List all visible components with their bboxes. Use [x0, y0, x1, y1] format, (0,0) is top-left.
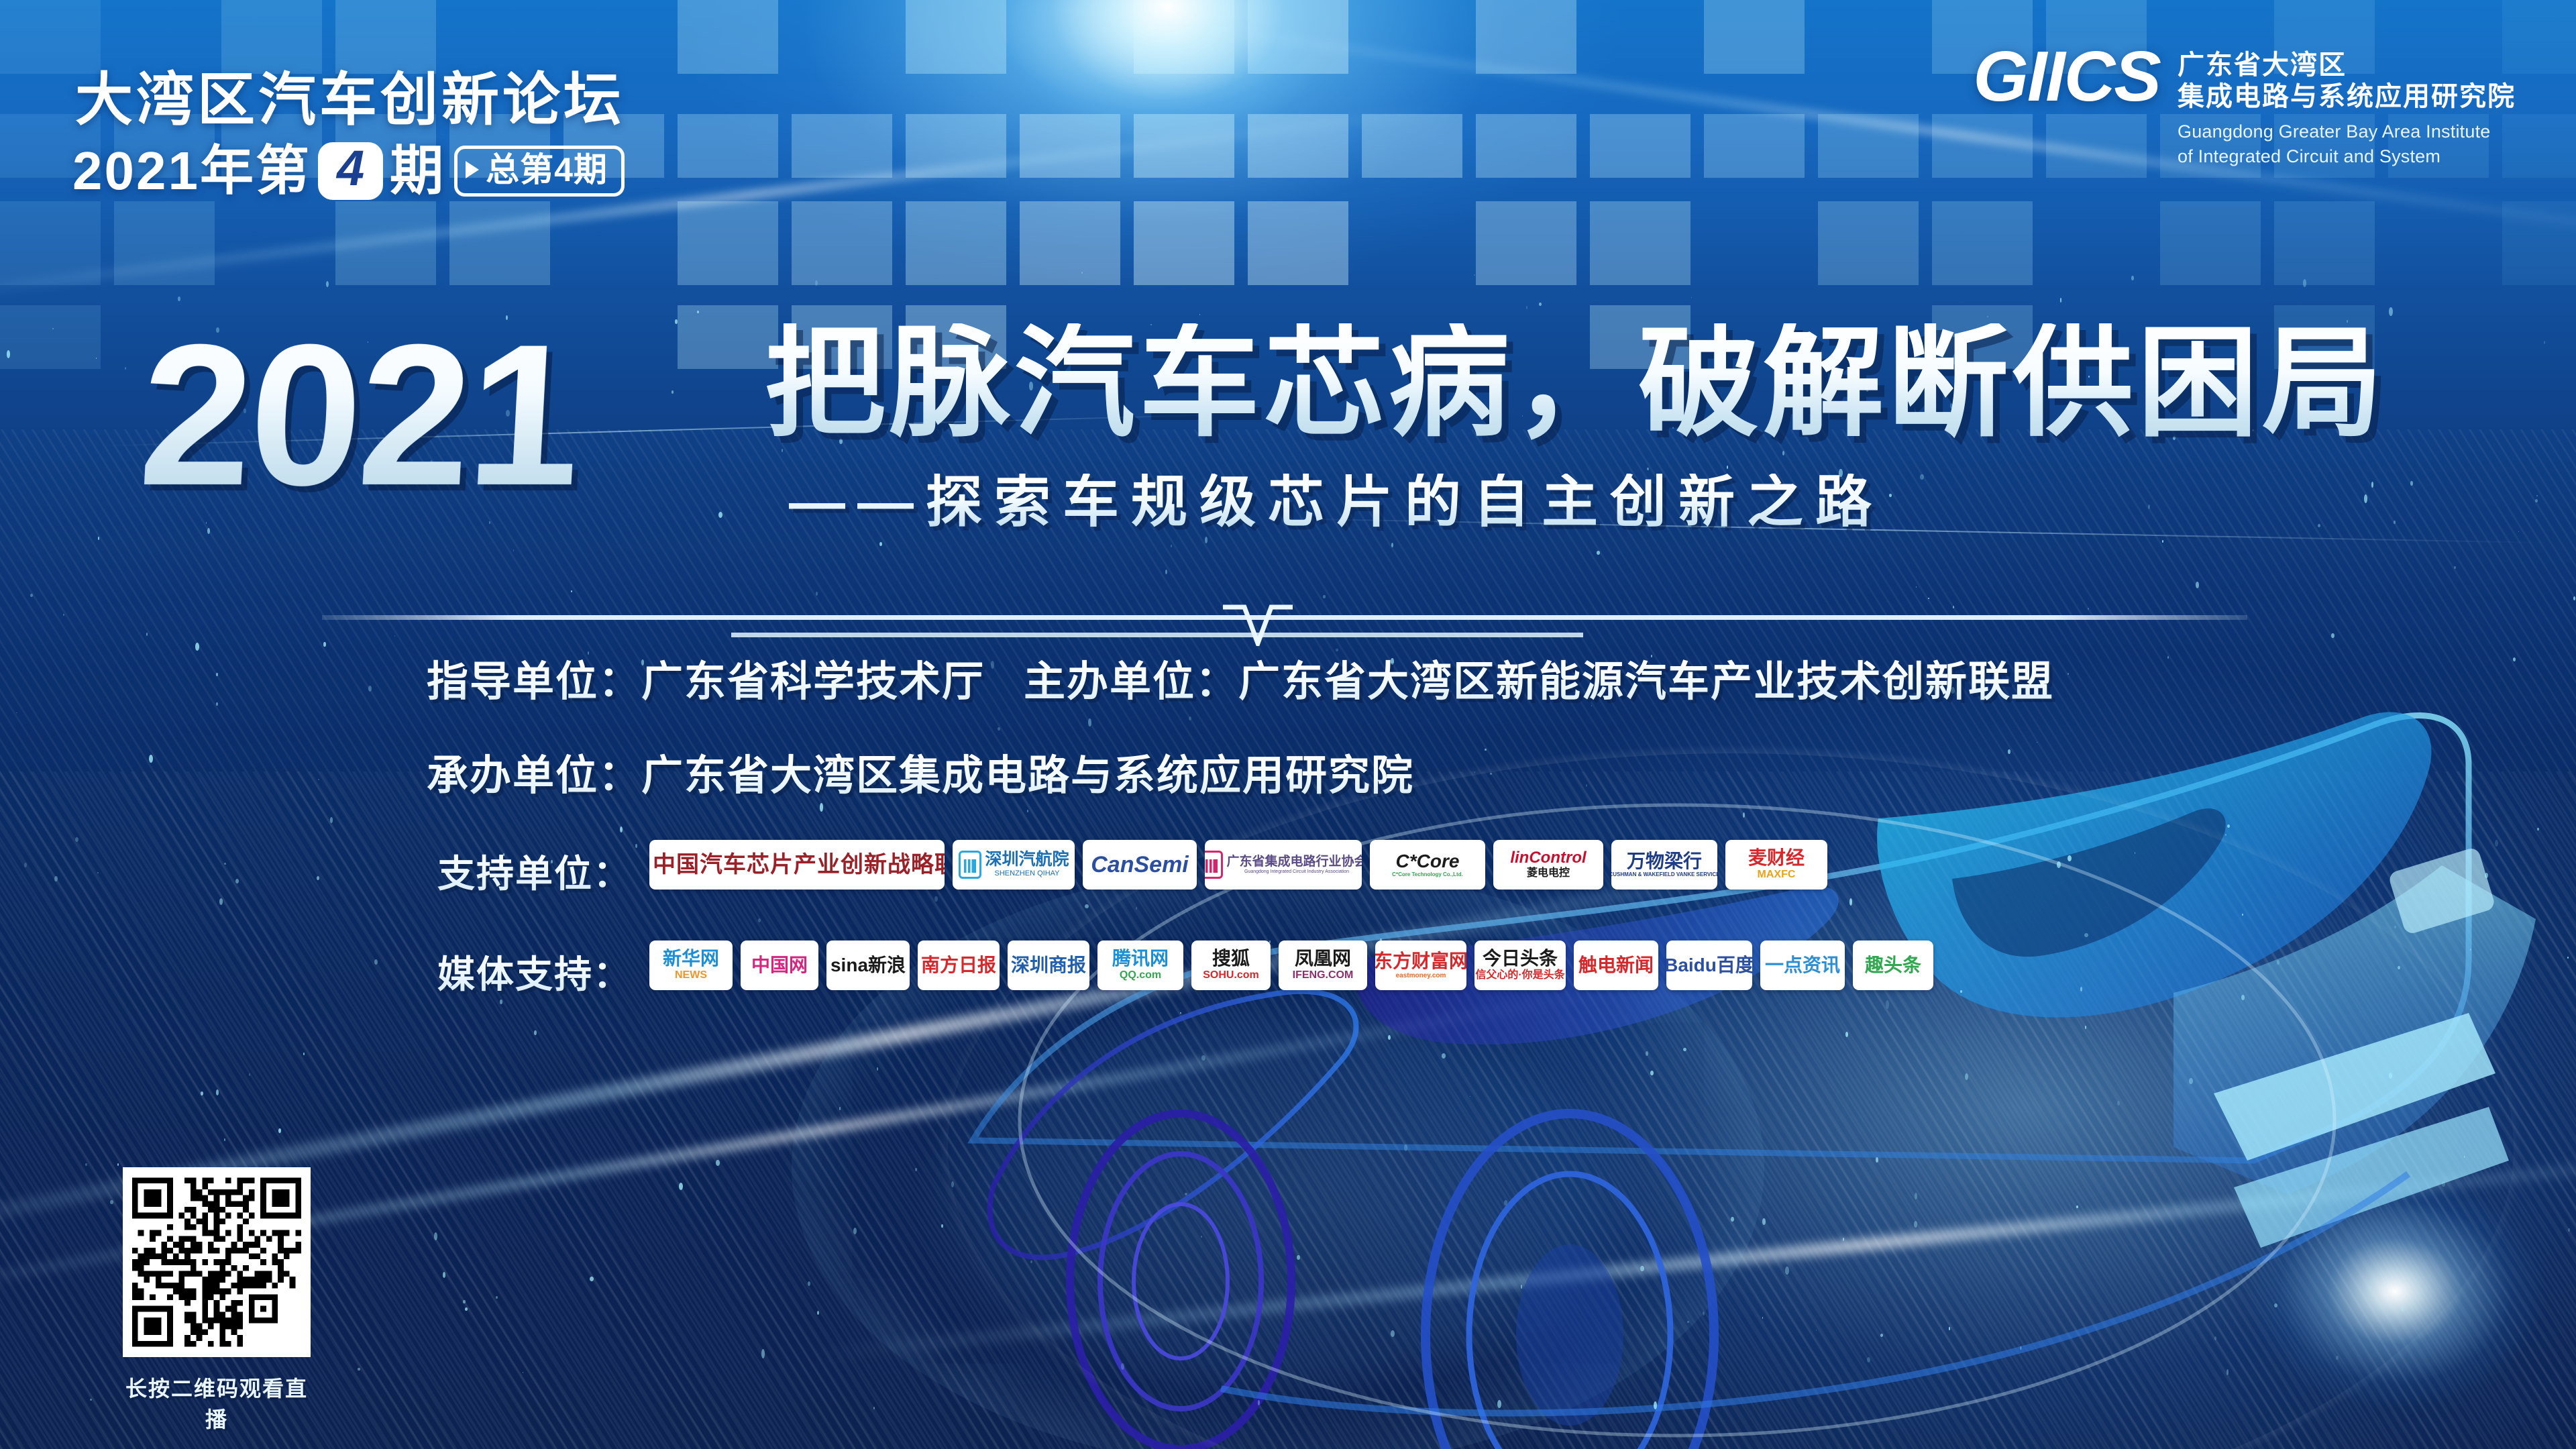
- organizer-unit-label: 主办单位：: [1024, 659, 1238, 705]
- sparkle-dot: [434, 1232, 437, 1240]
- sparkle-dot: [1762, 1218, 1766, 1225]
- sparkle-dot: [326, 281, 329, 287]
- sparkle-dot: [2398, 966, 2400, 969]
- sparkle-dot: [249, 1073, 250, 1076]
- institute-name-en-line2: of Integrated Circuit and System: [2178, 144, 2516, 168]
- sparkle-dot: [620, 826, 623, 833]
- sparkle-dot: [2568, 1228, 2570, 1232]
- sparkle-dot: [1199, 314, 1200, 315]
- logo-chip-name: C*Core: [1396, 852, 1460, 871]
- sparkle-dot: [1521, 1285, 1522, 1288]
- sparkle-dot: [216, 702, 218, 706]
- sparkle-dot: [1915, 1193, 1917, 1199]
- sparkle-dot: [368, 686, 372, 692]
- logo-chip[interactable]: CanSemi: [1083, 840, 1197, 890]
- logo-chip[interactable]: 麦财经MAXFC: [1725, 840, 1827, 890]
- media-support-label: 媒体支持：: [437, 945, 632, 999]
- sparkle-dot: [16, 712, 17, 714]
- sparkle-dot: [1470, 1096, 1471, 1097]
- sparkle-dot: [63, 614, 64, 616]
- sparkle-dot: [1928, 598, 1929, 599]
- logo-chip-name: 新华网: [663, 949, 719, 968]
- sparkle-dot: [52, 328, 54, 329]
- logo-chip[interactable]: C*CoreC*Core Technology Co.,Ltd.: [1370, 840, 1485, 890]
- sparkle-dot: [2021, 1346, 2022, 1349]
- headlight-flare: [2207, 1144, 2576, 1439]
- sparkle-dot: [195, 643, 199, 650]
- sparkle-dot: [278, 1128, 281, 1133]
- sparkle-dot: [1526, 306, 1528, 309]
- sparkle-dot: [2364, 494, 2367, 502]
- logo-chip[interactable]: 万物梁行CUSHMAN & WAKEFIELD VANKE SERVICE: [1611, 840, 1717, 890]
- poster-canvas: 大湾区汽车创新论坛 2021年第 4 期 总第4期 GIICS 广东省大湾区 集…: [0, 0, 2576, 1449]
- sparkle-dot: [1391, 543, 1393, 548]
- institute-name-line1: 广东省大湾区: [2178, 50, 2516, 81]
- mosaic-block: [792, 114, 892, 178]
- sparkle-dot: [808, 1281, 810, 1286]
- sparkle-dot: [2410, 481, 2412, 486]
- logo-chip-name: 东方财富网: [1375, 952, 1466, 971]
- mosaic-block: [2502, 201, 2576, 285]
- sparkle-dot: [1953, 606, 1954, 608]
- logo-chip-subtitle: NEWS: [675, 969, 707, 981]
- sparkle-dot: [1165, 570, 1167, 574]
- sparkle-dot: [1920, 474, 1924, 480]
- qr-block: 长按二维码观看直播: [123, 1167, 317, 1434]
- logo-chip-name: 深圳商报: [1011, 956, 1086, 975]
- sparkle-dot: [2537, 828, 2538, 830]
- logo-chip[interactable]: 一点资讯: [1760, 941, 1845, 990]
- giics-logo: GIICS 广东省大湾区 集成电路与系统应用研究院 Guangdong Grea…: [1973, 44, 2516, 168]
- sparkle-dot: [853, 1228, 857, 1234]
- sparkle-dot: [1171, 545, 1172, 547]
- sparkle-dot: [1189, 716, 1191, 721]
- mosaic-block: [1818, 114, 1919, 178]
- sparkle-dot: [758, 918, 761, 922]
- sparkle-dot: [1081, 272, 1083, 274]
- sparkle-dot: [318, 779, 319, 780]
- sparkle-dot: [2389, 1073, 2392, 1079]
- sparkle-dot: [1404, 1144, 1408, 1151]
- sparkle-dot: [146, 633, 148, 637]
- sparkle-dot: [718, 512, 722, 518]
- issue-number-badge: 4: [318, 142, 383, 200]
- logo-chip-subtitle: Guangdong Integrated Circuit Industry As…: [1244, 869, 1349, 875]
- sparkle-dot: [2495, 840, 2498, 847]
- mosaic-block: [1134, 0, 1234, 74]
- sun-flare-glow: [932, 0, 1402, 195]
- hero-year: 2021: [136, 314, 583, 515]
- institute-name-en-line1: Guangdong Greater Bay Area Institute: [2178, 119, 2516, 144]
- sparkle-dot: [1490, 773, 1492, 775]
- logo-chip[interactable]: 今日头条信父心的·你是头条: [1474, 941, 1566, 990]
- sparkle-dot: [817, 1311, 819, 1315]
- sparkle-dot: [2225, 834, 2226, 836]
- logo-chip[interactable]: 深圳商报: [1008, 941, 1089, 990]
- sparkle-dot: [1727, 466, 1728, 469]
- sparkle-dot: [2394, 521, 2396, 523]
- sparkle-dot: [815, 280, 818, 286]
- sparkle-dot: [1474, 274, 1475, 276]
- sparkle-dot: [1876, 1157, 1878, 1163]
- sparkle-dot: [500, 1000, 503, 1004]
- mosaic-block: [1704, 0, 1805, 74]
- sparkle-dot: [2454, 566, 2456, 570]
- sparkle-dot: [1691, 297, 1692, 298]
- mosaic-block: [1020, 201, 1120, 285]
- logo-chip-name: linControl: [1510, 850, 1586, 866]
- logo-chip-name: 南方日报: [921, 956, 996, 975]
- sparkle-dot: [2227, 824, 2230, 828]
- logo-chip[interactable]: · 中国汽车芯片产业创新战略联盟 ·: [649, 840, 945, 890]
- mosaic-block: [1134, 201, 1234, 285]
- mosaic-block: [1932, 201, 2033, 285]
- logo-chip-name: · 中国汽车芯片产业创新战略联盟 ·: [649, 853, 945, 876]
- logo-chip-name: Baidu百度: [1666, 956, 1752, 975]
- sparkle-dot: [679, 1183, 683, 1190]
- sparkle-dot: [1136, 907, 1138, 910]
- divider-line-lower: [731, 633, 1583, 637]
- logo-chip[interactable]: 中国网: [741, 941, 818, 990]
- sparkle-dot: [1504, 1200, 1508, 1205]
- sparkle-dot: [534, 1030, 536, 1036]
- sparkle-dot: [1845, 1032, 1848, 1037]
- logo-chip-name: 搜狐: [1212, 949, 1250, 968]
- sparkle-dot: [201, 1091, 203, 1095]
- sparkle-dot: [1391, 1330, 1395, 1338]
- sparkle-dot: [1889, 494, 1892, 497]
- logo-chip[interactable]: 东方财富网eastmoney.com: [1375, 941, 1466, 990]
- sparkle-dot: [1539, 303, 1542, 306]
- mosaic-block: [678, 201, 778, 285]
- logo-chip[interactable]: 搜狐SOHU.com: [1191, 941, 1271, 990]
- logo-mark-icon: [959, 851, 981, 879]
- sparkle-dot: [1485, 749, 1486, 751]
- sparkle-dot: [1992, 965, 1993, 967]
- logo-chip[interactable]: 趣头条: [1853, 941, 1933, 990]
- sparkle-dot: [2470, 949, 2471, 951]
- sparkle-dot: [117, 1163, 119, 1166]
- sparkle-dot: [1646, 1051, 1648, 1056]
- host-unit-label: 承办单位：: [427, 753, 641, 799]
- mosaic-block: [1590, 114, 1690, 178]
- sparkle-dot: [358, 1368, 360, 1371]
- sparkle-dot: [1965, 1073, 1968, 1080]
- sparkle-dot: [224, 863, 226, 865]
- logo-chip-subtitle: C*Core Technology Co.,Ltd.: [1392, 872, 1463, 878]
- forum-name: 大湾区汽车创新论坛: [75, 52, 625, 136]
- logo-chip-name: CanSemi: [1091, 853, 1189, 876]
- sparkle-dot: [216, 673, 218, 676]
- logo-chip-name: 万物梁行: [1627, 852, 1702, 871]
- mosaic-block: [449, 201, 550, 285]
- sparkle-dot: [1201, 1236, 1201, 1238]
- sparkle-dot: [1816, 1330, 1817, 1331]
- sparkle-dot: [1703, 1311, 1705, 1316]
- diagonal-hatch-texture: [0, 429, 2576, 1449]
- sparkle-dot: [2037, 742, 2037, 743]
- support-units-label: 支持单位：: [437, 844, 632, 898]
- logo-chip-name: 一点资讯: [1765, 956, 1840, 975]
- sparkle-dot: [1297, 1255, 1300, 1260]
- decorative-divider: [0, 600, 2576, 654]
- sparkle-dot: [2371, 482, 2374, 488]
- sparkle-dot: [951, 1181, 954, 1187]
- sparkle-dot: [2162, 540, 2163, 543]
- sparkle-dot: [1843, 1238, 1845, 1241]
- mosaic-block: [1248, 0, 1348, 74]
- logo-chip-subtitle: eastmoney.com: [1396, 972, 1446, 979]
- logo-chip[interactable]: 凤凰网IFENG.COM: [1279, 941, 1367, 990]
- logo-chip[interactable]: Baidu百度: [1666, 941, 1752, 990]
- logo-chip-name: 凤凰网: [1295, 949, 1351, 968]
- sparkle-dot: [496, 1296, 498, 1299]
- giics-wordmark: GIICS: [1973, 44, 2160, 110]
- hero-subtitle: ——探索车规级芯片的自主创新之路: [789, 474, 1884, 530]
- sparkle-dot: [330, 817, 333, 822]
- sparkle-dot: [1442, 1053, 1446, 1059]
- sparkle-dot: [2008, 749, 2010, 754]
- mosaic-block: [1362, 114, 1462, 178]
- qr-code-image[interactable]: [132, 1177, 301, 1348]
- sparkle-dot: [590, 1277, 594, 1281]
- logo-chip[interactable]: 深圳汽航院SHENZHEN QIHAY: [953, 840, 1075, 890]
- sparkle-dot: [219, 898, 223, 905]
- sparkle-dot: [1497, 1400, 1501, 1408]
- logo-chip-subtitle: 信父心的·你是头条: [1475, 969, 1564, 981]
- logo-chip-name: 广东省集成电路行业协会: [1227, 855, 1362, 868]
- logo-chip-name: 触电新闻: [1578, 956, 1654, 975]
- logo-chip[interactable]: 腾讯网QQ.com: [1097, 941, 1183, 990]
- sparkle-dot: [1085, 904, 1089, 908]
- support-logo-row: · 中国汽车芯片产业创新战略联盟 ·深圳汽航院SHENZHEN QIHAYCan…: [649, 840, 1827, 890]
- sparkle-dot: [879, 542, 882, 546]
- logo-chip-subtitle: IFENG.COM: [1293, 969, 1354, 981]
- logo-chip-subtitle: SOHU.com: [1203, 969, 1259, 981]
- sparkle-dot: [2394, 926, 2396, 929]
- organizers-row-1: 指导单位：广东省科学技术厅主办单位：广东省大湾区新能源汽车产业技术创新联盟: [427, 647, 2054, 708]
- sparkle-dot: [2057, 861, 2061, 868]
- sparkle-dot: [394, 635, 395, 637]
- sparkle-dot: [207, 528, 210, 534]
- hero-title: 把脉汽车芯病，破解断供困局: [765, 323, 2387, 444]
- mosaic-block: [2274, 201, 2375, 285]
- sparkle-dot: [2117, 1101, 2120, 1106]
- mosaic-block: [678, 305, 778, 369]
- divider-chevron-icon: [1218, 604, 1298, 646]
- mosaic-block: [906, 0, 1006, 74]
- sparkle-dot: [1731, 1217, 1733, 1222]
- sparkle-dot: [7, 350, 10, 358]
- sparkle-dot: [96, 358, 97, 359]
- sparkle-dot: [2442, 1181, 2445, 1187]
- sparkle-dot: [915, 1168, 917, 1171]
- logo-chip-subtitle: CUSHMAN & WAKEFIELD VANKE SERVICE: [1611, 872, 1717, 878]
- sparkle-dot: [2242, 914, 2243, 915]
- sparkle-dot: [2167, 656, 2169, 659]
- sparkle-dot: [1597, 551, 1600, 555]
- sparkle-dot: [513, 549, 514, 551]
- sparkle-dot: [1121, 1363, 1124, 1370]
- sparkle-dot: [1640, 1266, 1644, 1271]
- sparkle-dot: [2401, 1305, 2404, 1311]
- logo-chip-name: 麦财经: [1748, 849, 1805, 867]
- sparkle-dot: [2274, 1303, 2277, 1307]
- sparkle-dot: [1687, 1321, 1688, 1323]
- sparkle-dot: [2085, 1026, 2086, 1029]
- logo-chip[interactable]: 广东省集成电路行业协会Guangdong Integrated Circuit …: [1205, 840, 1362, 890]
- sparkle-dot: [1027, 810, 1028, 812]
- sparkle-dot: [635, 844, 637, 849]
- sparkle-dot: [2135, 852, 2135, 854]
- mosaic-block: [1590, 201, 1690, 285]
- sparkle-dot: [2068, 673, 2069, 675]
- logo-chip[interactable]: 新华网NEWS: [649, 941, 733, 990]
- sparkle-dot: [2331, 633, 2334, 638]
- logo-chip-name: 今日头条: [1483, 949, 1558, 968]
- sparkle-dot: [675, 319, 677, 324]
- mosaic-block: [0, 201, 101, 285]
- sparkle-dot: [323, 642, 325, 646]
- sparkle-dot: [235, 879, 239, 883]
- sparkle-dot: [1654, 1401, 1657, 1409]
- mosaic-block: [0, 305, 101, 369]
- sparkle-dot: [2567, 957, 2569, 958]
- sparkle-dot: [672, 390, 674, 394]
- sparkle-dot: [2080, 987, 2083, 991]
- mosaic-block: [1134, 114, 1234, 178]
- sparkle-dot: [2148, 504, 2150, 509]
- sparkle-dot: [149, 755, 153, 763]
- mosaic-block: [1476, 114, 1576, 178]
- mosaic-block: [792, 201, 892, 285]
- organizers-row-2: 承办单位：广东省大湾区集成电路与系统应用研究院: [427, 741, 1414, 802]
- sparkle-dot: [1880, 1334, 1883, 1337]
- mosaic-block: [1248, 114, 1348, 178]
- logo-chip[interactable]: 触电新闻: [1574, 941, 1658, 990]
- sparkle-dot: [97, 872, 99, 873]
- sparkle-dot: [2068, 855, 2072, 861]
- sparkle-dot: [1088, 718, 1091, 727]
- issue-year-prefix: 2021年第: [72, 144, 311, 198]
- sparkle-dot: [2303, 279, 2306, 287]
- sparkle-dot: [1323, 595, 1326, 598]
- sparkle-dot: [2131, 276, 2134, 280]
- sparkle-dot: [1650, 1071, 1653, 1075]
- sparkle-dot: [1185, 1193, 1187, 1195]
- mosaic-block: [114, 201, 215, 285]
- logo-chip[interactable]: sina新浪: [826, 941, 910, 990]
- sparkle-dot: [1867, 1357, 1870, 1362]
- sparkle-dot: [85, 1163, 87, 1166]
- sparkle-dot: [2060, 298, 2062, 303]
- sparkle-dot: [443, 1272, 446, 1278]
- mosaic-block: [1704, 114, 1805, 178]
- mosaic-block: [678, 114, 778, 178]
- sparkle-dot: [1586, 784, 1587, 787]
- sparkle-dot: [523, 1372, 523, 1373]
- mosaic-block: [335, 201, 436, 285]
- sparkle-dot: [2277, 960, 2279, 964]
- qr-code-frame[interactable]: [123, 1167, 311, 1357]
- sparkle-dot: [317, 876, 319, 880]
- logo-chip-name: 趣头条: [1865, 956, 1921, 975]
- sparkle-dot: [2214, 1336, 2216, 1340]
- sparkle-dot: [998, 727, 1000, 731]
- sparkle-dot: [125, 367, 126, 370]
- sparkle-dot: [1782, 451, 1784, 455]
- logo-mark-icon: [1205, 851, 1223, 879]
- sparkle-dot: [2535, 499, 2538, 502]
- logo-chip-name: 深圳汽航院: [985, 851, 1069, 868]
- institute-name-line2: 集成电路与系统应用研究院: [2178, 81, 2516, 113]
- sparkle-dot: [1960, 990, 1963, 994]
- sparkle-dot: [224, 1138, 225, 1141]
- sparkle-dot: [1201, 1055, 1205, 1061]
- sparkle-dot: [941, 1224, 943, 1228]
- sparkle-dot: [1474, 771, 1475, 773]
- sparkle-dot: [1785, 1267, 1789, 1275]
- mosaic-block: [1476, 201, 1576, 285]
- sparkle-dot: [2088, 608, 2089, 610]
- sparkle-dot: [1949, 1327, 1951, 1330]
- mosaic-block: [1476, 0, 1576, 74]
- organizer-unit-value: 广东省大湾区新能源汽车产业技术创新联盟: [1238, 659, 2054, 705]
- logo-chip[interactable]: 南方日报: [918, 941, 1000, 990]
- sparkle-dot: [2485, 873, 2488, 878]
- sparkle-dot: [1886, 1000, 1890, 1009]
- sparkle-dot: [178, 297, 180, 301]
- sparkle-dot: [877, 1067, 878, 1071]
- guide-unit-label: 指导单位：: [427, 659, 641, 705]
- play-triangle-icon: [466, 161, 479, 178]
- sparkle-dot: [2464, 1156, 2465, 1157]
- sparkle-dot: [2196, 582, 2199, 588]
- issue-suffix: 期: [390, 144, 443, 198]
- logo-chip-subtitle: MAXFC: [1758, 869, 1796, 881]
- media-logo-row: 新华网NEWS中国网sina新浪南方日报深圳商报腾讯网QQ.com搜狐SOHU.…: [649, 941, 1933, 990]
- light-beam: [810, 1146, 2576, 1361]
- sparkle-dot: [716, 1160, 720, 1165]
- sparkle-dot: [697, 311, 699, 313]
- logo-chip-subtitle: 菱电电控: [1527, 867, 1570, 879]
- issue-line: 2021年第 4 期 总第4期: [72, 142, 625, 200]
- logo-chip-name: 腾讯网: [1112, 949, 1169, 968]
- sparkle-dot: [1683, 1048, 1686, 1051]
- sparkle-dot: [1205, 537, 1207, 543]
- sparkle-dot: [1762, 1317, 1763, 1319]
- sparkle-dot: [98, 537, 99, 540]
- sparkle-dot: [1743, 812, 1745, 817]
- sparkle-dot: [303, 1053, 305, 1055]
- logo-chip[interactable]: linControl菱电电控: [1493, 840, 1603, 890]
- logo-chip-name: 中国网: [751, 956, 808, 975]
- sparkle-dot: [1388, 1035, 1391, 1040]
- host-unit-value: 广东省大湾区集成电路与系统应用研究院: [641, 753, 1414, 799]
- mosaic-block: [678, 0, 778, 74]
- logo-chip-name: sina新浪: [830, 956, 906, 975]
- sparkle-dot: [2318, 524, 2320, 527]
- sparkle-dot: [90, 1399, 92, 1401]
- sparkle-dot: [1914, 1221, 1918, 1228]
- sparkle-dot: [216, 1089, 219, 1095]
- total-issue-label: 总第4期: [486, 153, 608, 186]
- sparkle-dot: [463, 1300, 466, 1303]
- logo-chip-subtitle: QQ.com: [1120, 969, 1161, 981]
- sparkle-dot: [2226, 1369, 2229, 1375]
- sparkle-dot: [2518, 531, 2519, 533]
- sparkle-dot: [24, 863, 27, 867]
